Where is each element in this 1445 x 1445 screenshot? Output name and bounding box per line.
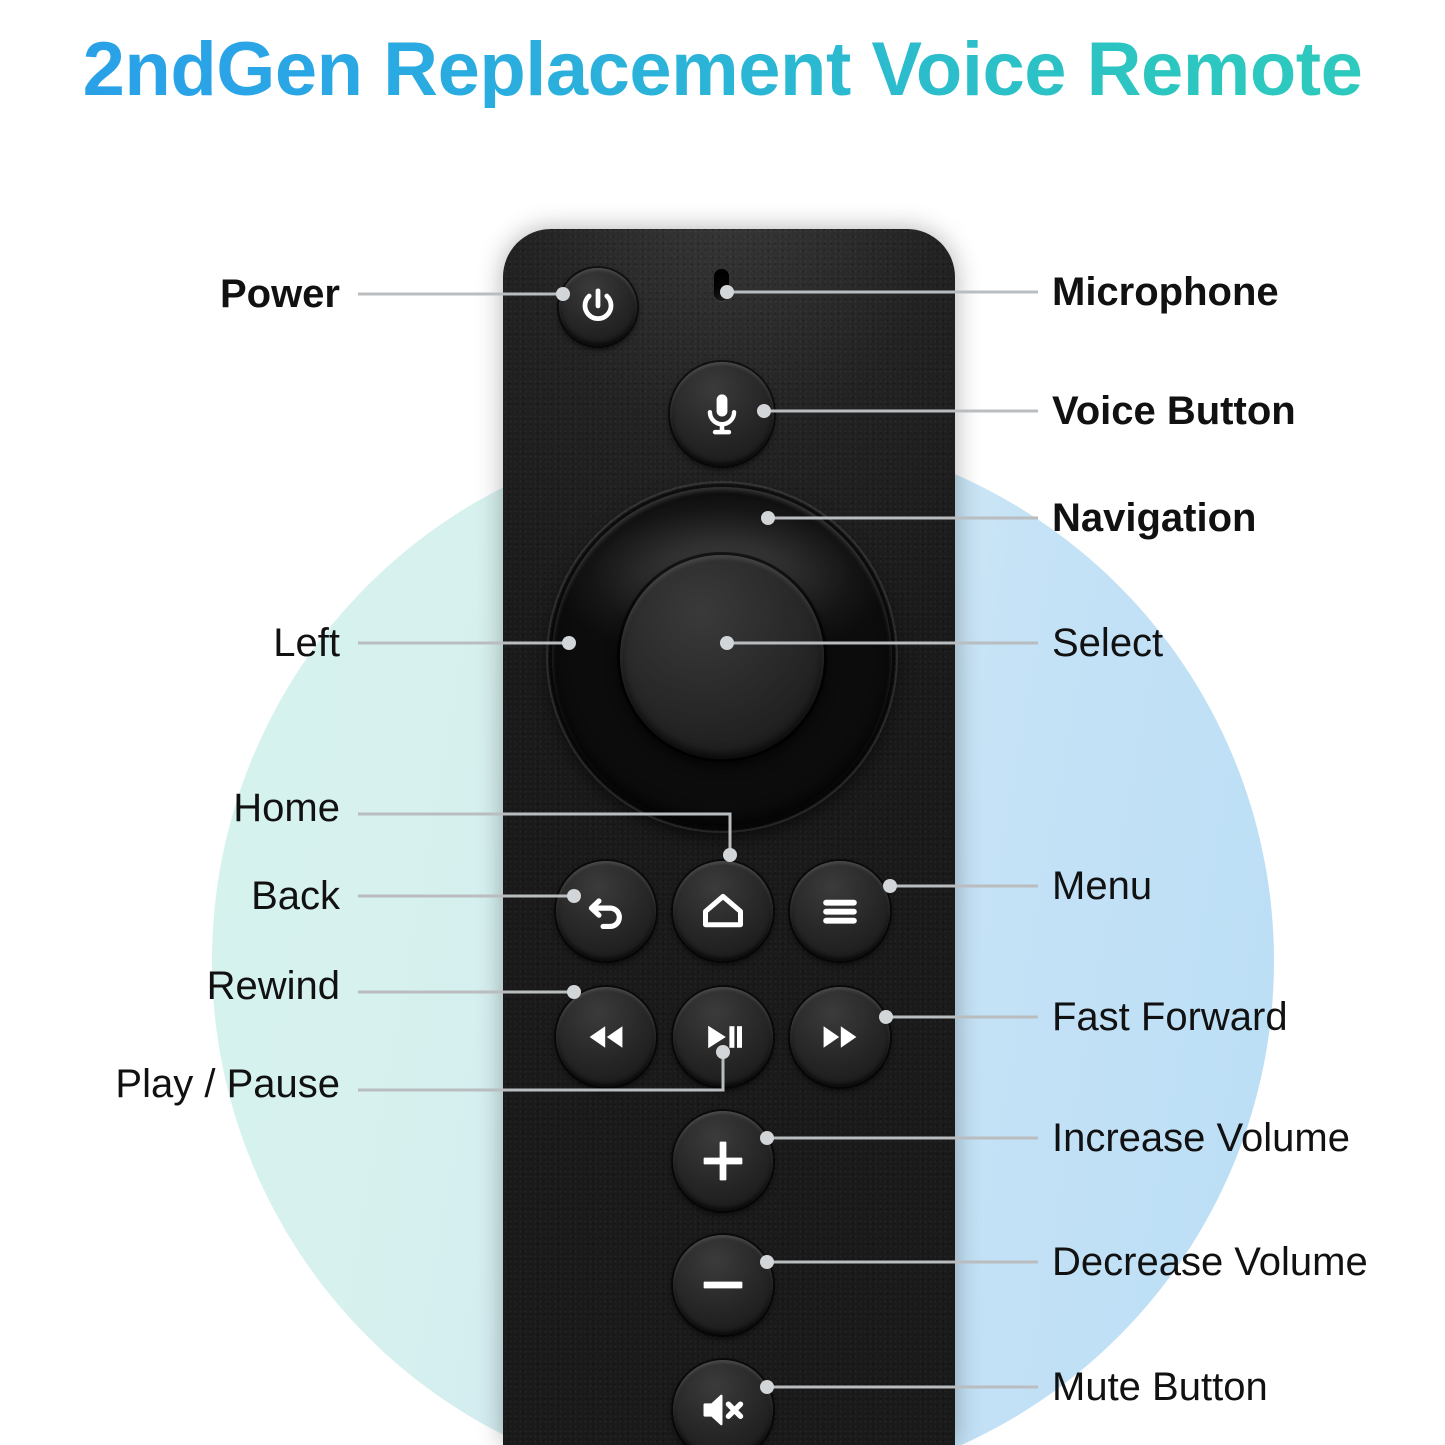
back-button[interactable] (556, 861, 656, 961)
callout-label-home: Home (233, 788, 340, 828)
voice-button[interactable] (670, 362, 774, 466)
home-button[interactable] (673, 861, 773, 961)
rewind-icon (582, 1013, 630, 1061)
fast-forward-button[interactable] (790, 987, 890, 1087)
power-icon (576, 285, 620, 329)
page-title: 2ndGen Replacement Voice Remote (0, 32, 1445, 108)
callout-label-select: Select (1052, 623, 1163, 663)
select-button[interactable] (620, 555, 824, 759)
increase-volume-button[interactable] (673, 1111, 773, 1211)
callout-label-microphone: Microphone (1052, 272, 1279, 312)
mute-speaker-icon (698, 1385, 748, 1435)
callout-label-mute-button: Mute Button (1052, 1367, 1268, 1407)
callout-label-increase-volume: Increase Volume (1052, 1118, 1350, 1158)
callout-label-left: Left (273, 623, 340, 663)
play-pause-icon (699, 1013, 747, 1061)
callout-label-rewind: Rewind (207, 966, 340, 1006)
callout-label-back: Back (251, 876, 340, 916)
callout-label-navigation: Navigation (1052, 498, 1256, 538)
rewind-button[interactable] (556, 987, 656, 1087)
callout-label-voice-button: Voice Button (1052, 391, 1296, 431)
callout-label-decrease-volume: Decrease Volume (1052, 1242, 1368, 1282)
fast-forward-icon (816, 1013, 864, 1061)
callout-label-power: Power (220, 274, 340, 314)
remote-body (503, 229, 955, 1445)
power-button[interactable] (559, 268, 637, 346)
mute-button[interactable] (673, 1360, 773, 1445)
menu-button[interactable] (790, 861, 890, 961)
product-diagram: 2ndGen Replacement Voice Remote (0, 0, 1445, 1445)
back-icon (581, 886, 631, 936)
home-icon (698, 886, 748, 936)
play-pause-button[interactable] (673, 987, 773, 1087)
decrease-volume-button[interactable] (673, 1235, 773, 1335)
plus-icon (696, 1134, 750, 1188)
callout-label-fast-forward: Fast Forward (1052, 997, 1288, 1037)
minus-icon (696, 1258, 750, 1312)
callout-label-menu: Menu (1052, 866, 1152, 906)
callout-label-play-pause: Play / Pause (115, 1064, 340, 1104)
microphone-hole-icon (714, 269, 729, 301)
microphone-icon (697, 389, 747, 439)
hamburger-menu-icon (816, 887, 864, 935)
